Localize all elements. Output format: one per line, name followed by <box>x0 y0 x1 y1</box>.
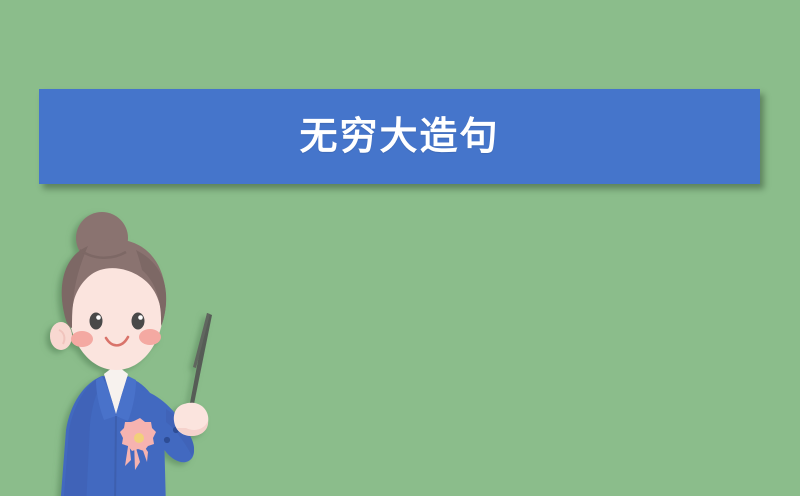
blue-jacket <box>60 368 194 496</box>
left-blush <box>71 331 93 347</box>
right-hand <box>174 403 208 436</box>
left-eye <box>90 313 103 330</box>
page-title: 无穷大造句 <box>299 118 499 156</box>
title-banner: 无穷大造句 <box>39 89 760 184</box>
slide-canvas: 无穷大造句 <box>0 0 800 496</box>
right-blush <box>139 329 161 345</box>
right-eye <box>132 313 145 330</box>
left-ear <box>50 322 72 350</box>
sleeve-button <box>164 437 170 443</box>
teacher-illustration <box>16 208 276 496</box>
pointer-stick <box>190 313 212 404</box>
